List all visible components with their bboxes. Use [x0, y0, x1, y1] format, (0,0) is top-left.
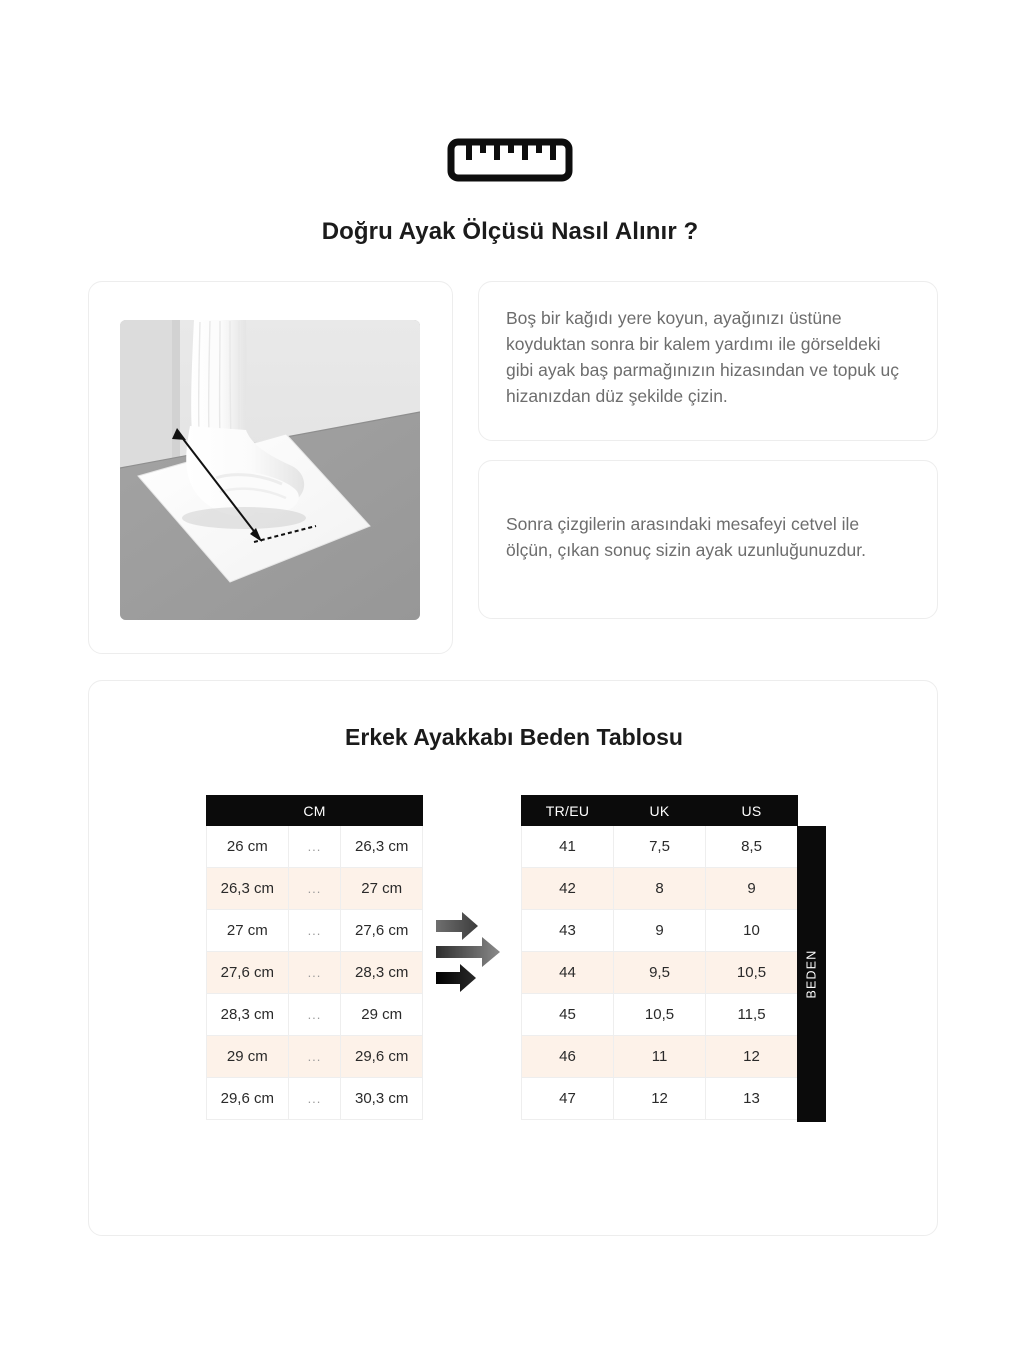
page-title: Doğru Ayak Ölçüsü Nasıl Alınır ?: [0, 218, 1020, 246]
size-chart-header-cell: TR/EU: [522, 796, 614, 826]
cm-separator: ...: [288, 868, 341, 910]
size-chart-row: 4289: [522, 868, 798, 910]
cm-table-row: 28,3 cm...29 cm: [207, 994, 423, 1036]
cm-to: 27 cm: [341, 868, 423, 910]
cm-to: 27,6 cm: [341, 910, 423, 952]
size-table-card: Erkek Ayakkabı Beden Tablosu CM 26 cm...…: [88, 680, 938, 1236]
cm-table-row: 29,6 cm...30,3 cm: [207, 1078, 423, 1120]
ruler-icon: [447, 138, 573, 182]
size-chart-row: 449,510,5: [522, 952, 798, 994]
size-chart-cell: 11: [614, 1036, 706, 1078]
cm-separator: ...: [288, 826, 341, 868]
instruction-text-2: Sonra çizgilerin arasındaki mesafeyi cet…: [506, 511, 906, 563]
size-chart-cell: 42: [522, 868, 614, 910]
foot-on-paper-illustration: [120, 320, 420, 620]
cm-to: 29,6 cm: [341, 1036, 423, 1078]
cm-separator: ...: [288, 952, 341, 994]
cm-table-header-row: CM: [207, 796, 423, 826]
cm-from: 27,6 cm: [207, 952, 289, 994]
size-table-title: Erkek Ayakkabı Beden Tablosu: [89, 724, 939, 751]
size-chart-cell: 10: [706, 910, 798, 952]
cm-separator: ...: [288, 1036, 341, 1078]
size-chart-cell: 43: [522, 910, 614, 952]
size-chart-cell: 47: [522, 1078, 614, 1120]
size-chart-header-cell: US: [706, 796, 798, 826]
cm-to: 29 cm: [341, 994, 423, 1036]
size-chart-cell: 9,5: [614, 952, 706, 994]
cm-from: 28,3 cm: [207, 994, 289, 1036]
cm-separator: ...: [288, 1078, 341, 1120]
cm-from: 29 cm: [207, 1036, 289, 1078]
cm-to: 30,3 cm: [341, 1078, 423, 1120]
size-chart-cell: 11,5: [706, 994, 798, 1036]
size-chart-cell: 9: [706, 868, 798, 910]
size-chart-header-cell: UK: [614, 796, 706, 826]
instruction-card-2: Sonra çizgilerin arasındaki mesafeyi cet…: [478, 460, 938, 619]
size-chart-cell: 7,5: [614, 826, 706, 868]
size-chart-cell: 46: [522, 1036, 614, 1078]
size-chart-cell: 12: [706, 1036, 798, 1078]
cm-table: CM 26 cm...26,3 cm26,3 cm...27 cm27 cm..…: [206, 795, 423, 1120]
cm-from: 27 cm: [207, 910, 289, 952]
size-chart-cell: 41: [522, 826, 614, 868]
beden-side-label: BEDEN: [797, 826, 826, 1122]
size-chart-cell: 10,5: [706, 952, 798, 994]
size-chart-cell: 45: [522, 994, 614, 1036]
cm-from: 26,3 cm: [207, 868, 289, 910]
beden-side-label-text: BEDEN: [805, 949, 819, 998]
cm-table-row: 29 cm...29,6 cm: [207, 1036, 423, 1078]
cm-from: 29,6 cm: [207, 1078, 289, 1120]
cm-separator: ...: [288, 994, 341, 1036]
cm-table-header-cell: CM: [207, 796, 423, 826]
foot-measure-photo: [120, 320, 420, 620]
ruler-icon-container: [0, 138, 1020, 182]
cm-separator: ...: [288, 910, 341, 952]
cm-table-head: CM: [207, 796, 423, 826]
size-chart-cell: 10,5: [614, 994, 706, 1036]
size-chart-table: TR/EUUKUS 417,58,5428943910449,510,54510…: [521, 795, 798, 1120]
photo-card: [88, 281, 453, 654]
size-chart-row: 417,58,5: [522, 826, 798, 868]
cm-to: 26,3 cm: [341, 826, 423, 868]
size-chart-row: 43910: [522, 910, 798, 952]
instruction-text-1: Boş bir kağıdı yere koyun, ayağınızı üst…: [506, 305, 906, 409]
cm-table-body: 26 cm...26,3 cm26,3 cm...27 cm27 cm...27…: [207, 826, 423, 1120]
cm-table-row: 27,6 cm...28,3 cm: [207, 952, 423, 994]
cm-table-row: 26 cm...26,3 cm: [207, 826, 423, 868]
cm-to: 28,3 cm: [341, 952, 423, 994]
size-chart-cell: 12: [614, 1078, 706, 1120]
size-guide-page: Doğru Ayak Ölçüsü Nasıl Alınır ?: [0, 0, 1020, 1360]
size-chart-header-row: TR/EUUKUS: [522, 796, 798, 826]
size-chart-cell: 8,5: [706, 826, 798, 868]
size-chart-cell: 9: [614, 910, 706, 952]
arrows-right-icon: [434, 906, 512, 998]
size-chart-cell: 44: [522, 952, 614, 994]
cm-table-row: 27 cm...27,6 cm: [207, 910, 423, 952]
size-chart-body: 417,58,5428943910449,510,54510,511,54611…: [522, 826, 798, 1120]
size-chart-head: TR/EUUKUS: [522, 796, 798, 826]
size-chart-row: 471213: [522, 1078, 798, 1120]
size-chart-row: 461112: [522, 1036, 798, 1078]
instruction-card-1: Boş bir kağıdı yere koyun, ayağınızı üst…: [478, 281, 938, 441]
size-chart-cell: 13: [706, 1078, 798, 1120]
size-chart-row: 4510,511,5: [522, 994, 798, 1036]
cm-table-row: 26,3 cm...27 cm: [207, 868, 423, 910]
cm-from: 26 cm: [207, 826, 289, 868]
size-chart-cell: 8: [614, 868, 706, 910]
